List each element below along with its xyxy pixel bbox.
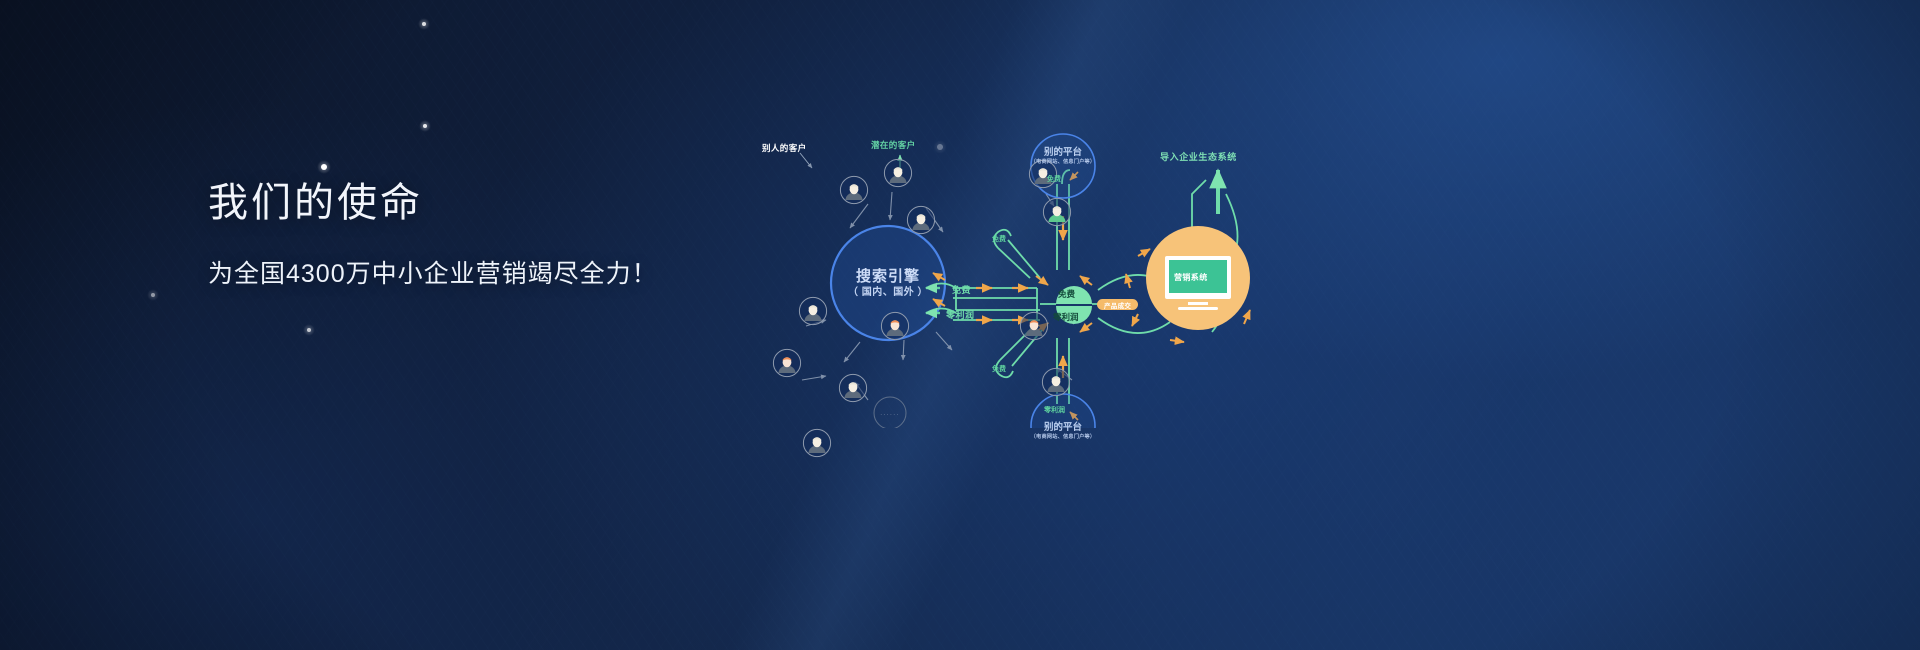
- monitor-base: [1178, 307, 1218, 310]
- hero-banner: 我们的使命 为全国4300万中小企业营销竭尽全力！: [0, 0, 1920, 650]
- customer-avatar: [1019, 311, 1049, 341]
- page-title: 我们的使命: [208, 178, 658, 228]
- customer-avatar: [802, 428, 832, 458]
- customer-avatar: [838, 373, 868, 403]
- customer-avatar: [906, 205, 936, 235]
- platform-bottom-flow-tag: 零利润: [1044, 405, 1065, 415]
- hero-copy: 我们的使命 为全国4300万中小企业营销竭尽全力！: [208, 178, 658, 291]
- marketing-system-label: 营销系统: [1174, 272, 1208, 283]
- customer-avatar: [1041, 367, 1071, 397]
- customer-avatar: [883, 158, 913, 188]
- marketing-ecosystem-diagram: ······: [740, 128, 1280, 428]
- hub-label-zero-profit: 零利润: [1053, 311, 1079, 323]
- monitor-stand: [1188, 302, 1208, 305]
- customer-avatar: [880, 311, 910, 341]
- customer-avatar: [772, 348, 802, 378]
- background-star: [307, 328, 311, 332]
- background-star: [423, 124, 427, 128]
- customer-avatar: [1042, 197, 1072, 227]
- platform-top-flow-tag: 免费: [1047, 174, 1061, 184]
- customer-avatar: [839, 175, 869, 205]
- background-star: [321, 164, 328, 171]
- page-subtitle: 为全国4300万中小企业营销竭尽全力！: [208, 258, 658, 291]
- hub-label-free: 免费: [1058, 288, 1075, 300]
- svg-text:······: ······: [880, 412, 899, 418]
- background-star: [422, 22, 426, 26]
- customer-avatar: [798, 296, 828, 326]
- background-star: [151, 293, 156, 298]
- deal-badge: 产品成交: [1097, 299, 1138, 310]
